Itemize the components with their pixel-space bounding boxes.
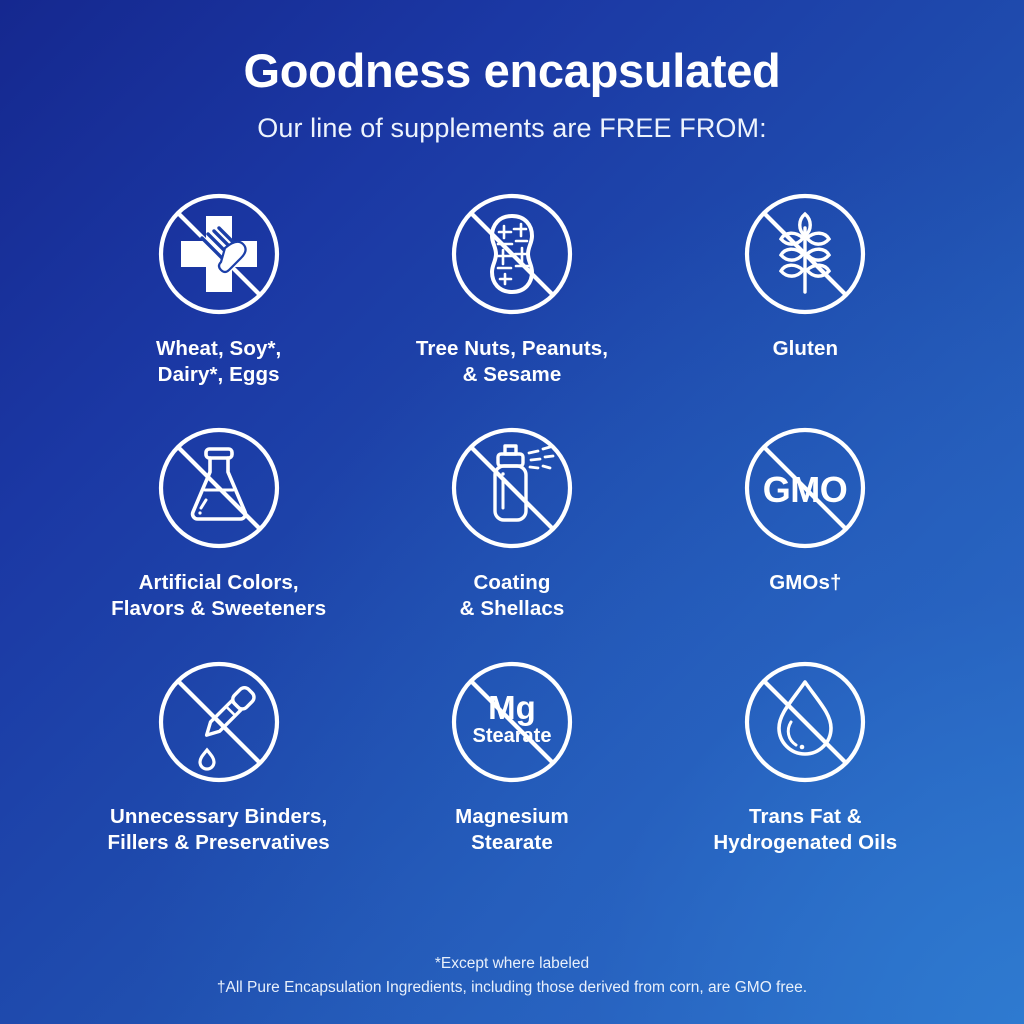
grid-item-label: Tree Nuts, Peanuts, & Sesame <box>416 336 608 388</box>
grid-item-label: Coating & Shellacs <box>460 570 565 622</box>
grid-item-allergens: Wheat, Soy*, Dairy*, Eggs <box>72 188 365 422</box>
grid-item-binders: Unnecessary Binders, Fillers & Preservat… <box>72 656 365 890</box>
page-subtitle: Our line of supplements are FREE FROM: <box>257 95 766 144</box>
no-peanut-icon <box>446 188 578 320</box>
no-oil-droplet-icon <box>739 656 871 788</box>
stearate-inner-text: Stearate <box>473 725 552 747</box>
mg-inner-text: Mg <box>488 689 536 726</box>
no-magnesium-stearate-icon: Mg Stearate <box>446 656 578 788</box>
grid-item-artificial-colors: Artificial Colors, Flavors & Sweeteners <box>72 422 365 656</box>
grid-item-label: Trans Fat & Hydrogenated Oils <box>713 804 897 856</box>
no-flask-icon <box>153 422 285 554</box>
gmo-inner-text: GMO <box>763 469 848 510</box>
grid-item-label: Magnesium Stearate <box>455 804 569 856</box>
no-dropper-pipette-icon <box>153 656 285 788</box>
page-title: Goodness encapsulated <box>244 0 781 95</box>
grid-item-nuts: Tree Nuts, Peanuts, & Sesame <box>365 188 658 422</box>
no-wheat-stalk-icon <box>739 188 871 320</box>
footnote-gmo-free: †All Pure Encapsulation Ingredients, inc… <box>0 976 1024 1000</box>
grid-item-coating: Coating & Shellacs <box>365 422 658 656</box>
no-spray-can-icon <box>446 422 578 554</box>
grid-item-label: Wheat, Soy*, Dairy*, Eggs <box>156 336 281 388</box>
grid-item-gmo: GMO GMOs† <box>659 422 952 656</box>
grid-item-magnesium-stearate: Mg Stearate Magnesium Stearate <box>365 656 658 890</box>
grid-item-label: Unnecessary Binders, Fillers & Preservat… <box>108 804 330 856</box>
grid-item-label: GMOs† <box>769 570 841 596</box>
poster: Goodness encapsulated Our line of supple… <box>0 0 1024 1024</box>
free-from-grid: Wheat, Soy*, Dairy*, Eggs <box>72 188 952 890</box>
footnote-except-where-labeled: *Except where labeled <box>0 952 1024 976</box>
grid-item-trans-fat: Trans Fat & Hydrogenated Oils <box>659 656 952 890</box>
grid-item-gluten: Gluten <box>659 188 952 422</box>
grid-item-label: Gluten <box>773 336 839 362</box>
grid-item-label: Artificial Colors, Flavors & Sweeteners <box>111 570 326 622</box>
no-allergen-fork-cross-icon <box>153 188 285 320</box>
no-gmo-icon: GMO <box>739 422 871 554</box>
footnotes: *Except where labeled †All Pure Encapsul… <box>0 952 1024 1000</box>
